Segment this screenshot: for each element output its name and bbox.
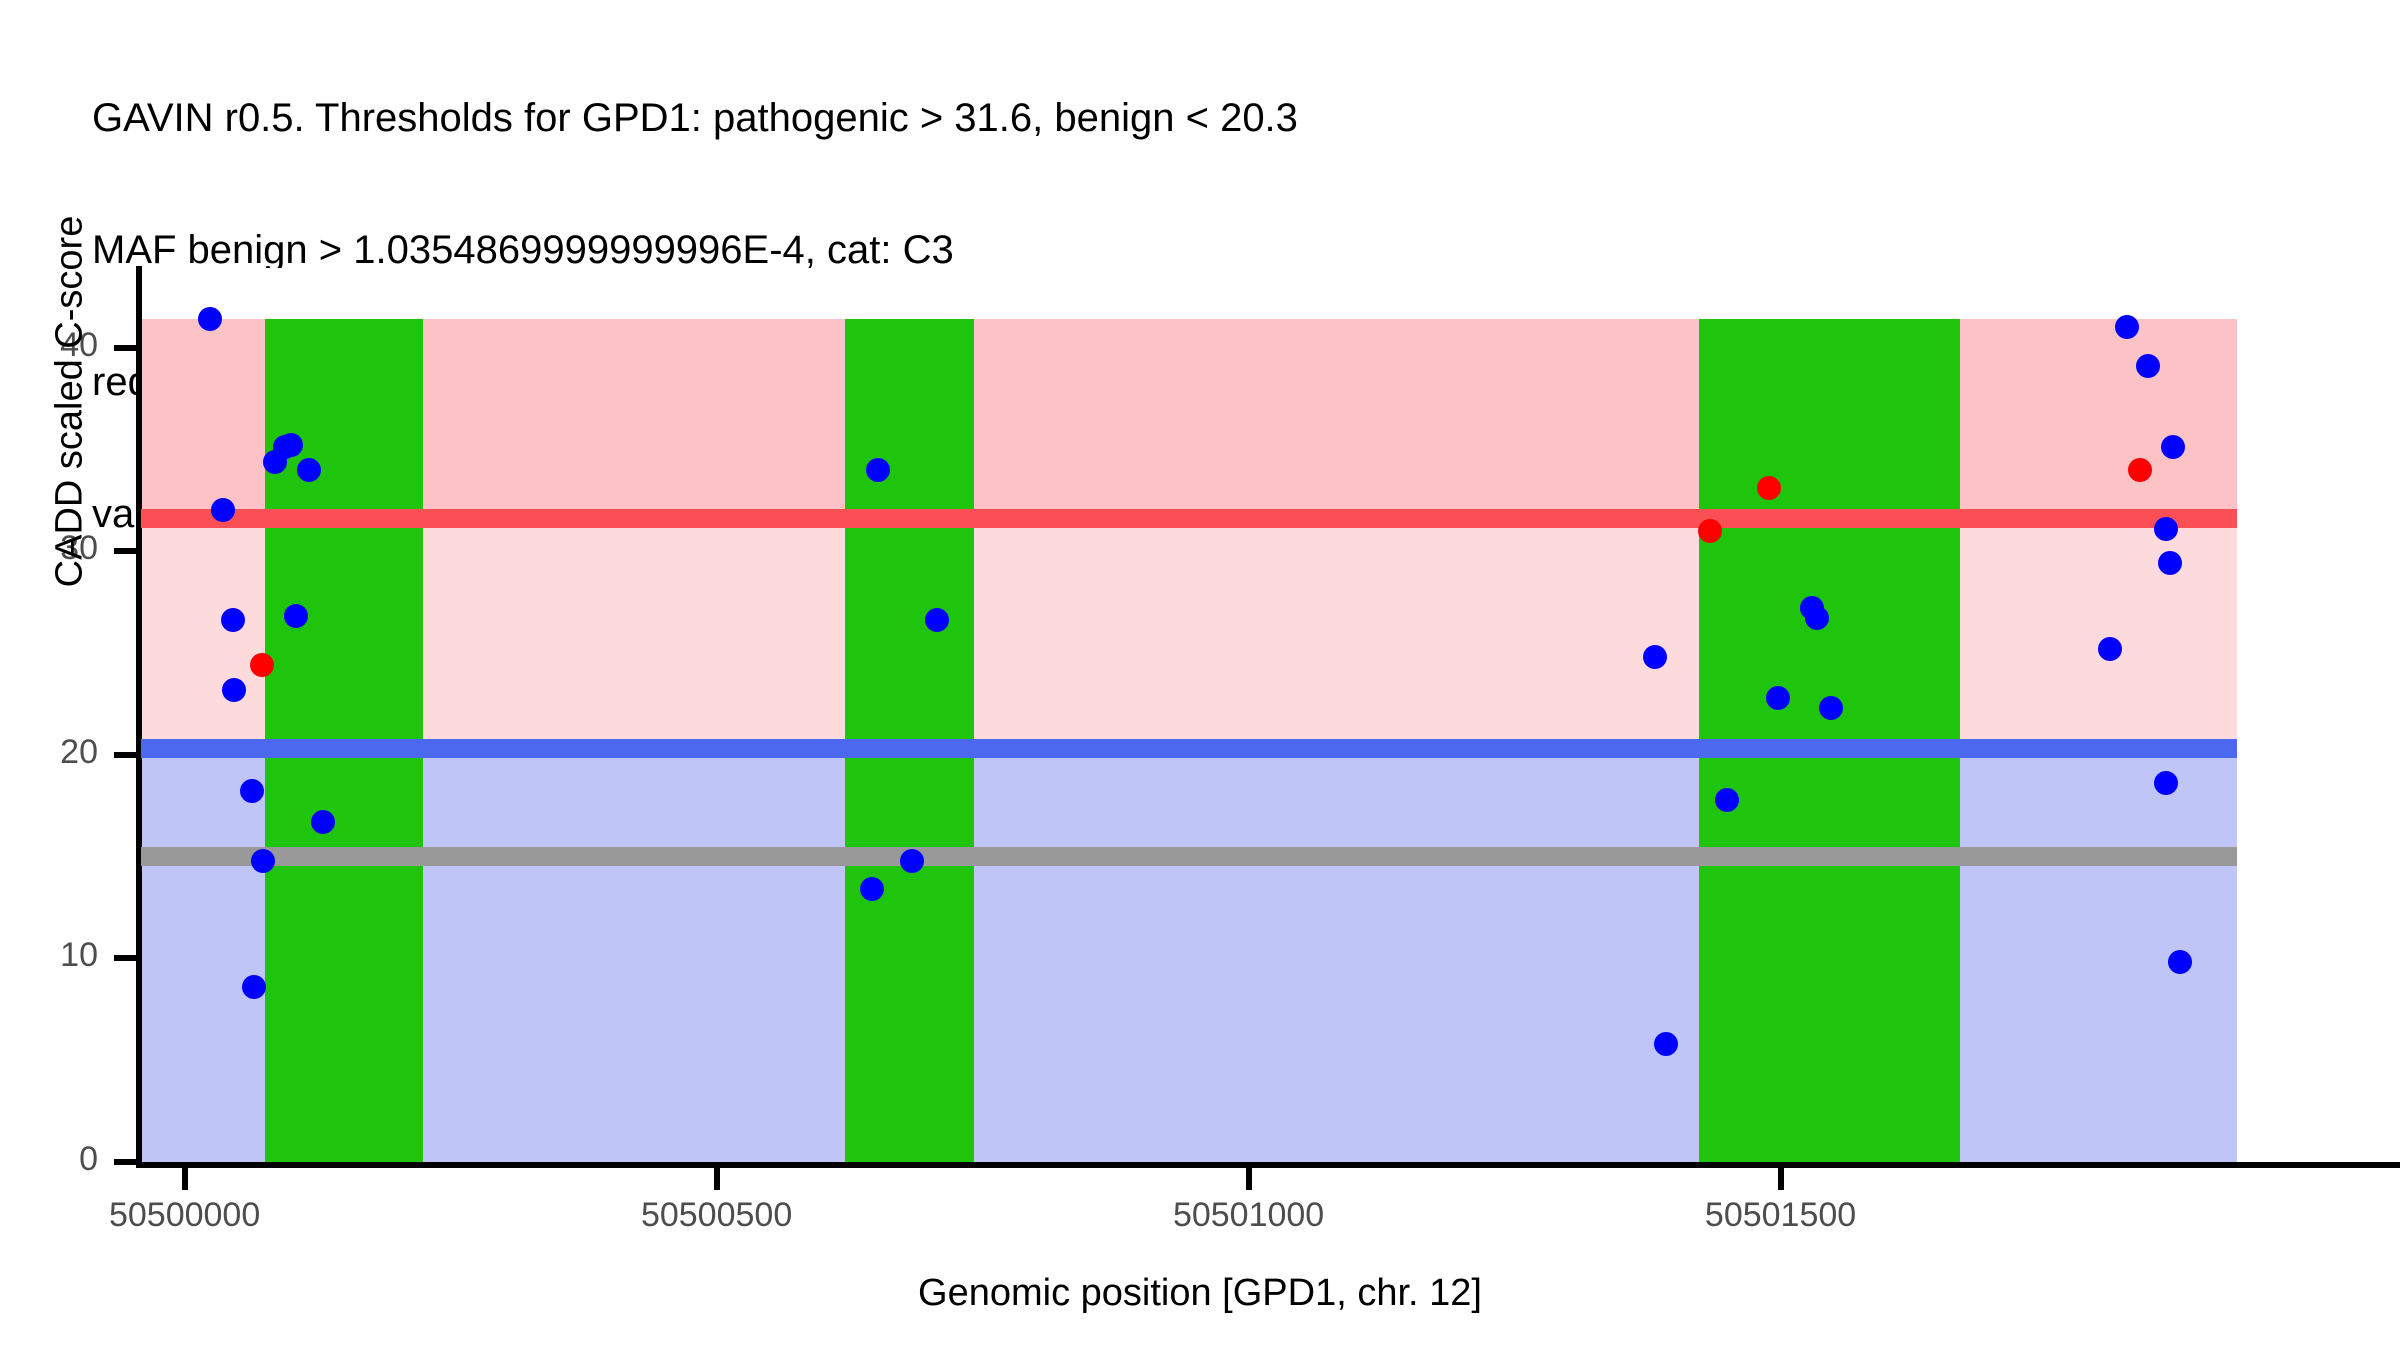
data-point-gnomad[interactable]: [242, 975, 266, 999]
y-tick-label: 20: [8, 733, 98, 772]
data-point-gnomad[interactable]: [866, 458, 890, 482]
plot-panel: [141, 268, 2237, 1162]
data-point-gnomad[interactable]: [297, 458, 321, 482]
y-tick-mark: [114, 1159, 138, 1165]
data-point-gnomad[interactable]: [1715, 788, 1739, 812]
data-point-gnomad[interactable]: [900, 849, 924, 873]
data-point-gnomad[interactable]: [1819, 696, 1843, 720]
data-point-clinvar[interactable]: [1698, 519, 1722, 543]
threshold-line-pathogenic: [141, 509, 2237, 528]
data-point-clinvar[interactable]: [1757, 476, 1781, 500]
x-tick-label: 50501000: [1119, 1196, 1379, 1235]
y-axis-line: [136, 266, 142, 1166]
scatter-plot: [141, 268, 2237, 1162]
data-point-gnomad[interactable]: [198, 307, 222, 331]
data-point-gnomad[interactable]: [240, 779, 264, 803]
data-point-gnomad[interactable]: [2154, 771, 2178, 795]
data-point-gnomad[interactable]: [311, 810, 335, 834]
data-point-gnomad[interactable]: [1805, 606, 1829, 630]
x-tick-label: 50500000: [55, 1196, 315, 1235]
y-tick-mark: [114, 955, 138, 961]
data-point-gnomad[interactable]: [1643, 645, 1667, 669]
x-tick-label: 50500500: [587, 1196, 847, 1235]
y-tick-label: 0: [8, 1140, 98, 1179]
threshold-line-benign: [141, 739, 2237, 758]
x-tick-mark: [714, 1168, 720, 1190]
data-point-gnomad[interactable]: [1654, 1032, 1678, 1056]
y-tick-label: 10: [8, 936, 98, 975]
y-tick-mark: [114, 345, 138, 351]
data-point-gnomad[interactable]: [860, 877, 884, 901]
x-tick-mark: [182, 1168, 188, 1190]
data-point-gnomad[interactable]: [2136, 354, 2160, 378]
data-point-gnomad[interactable]: [2154, 517, 2178, 541]
y-axis-title: CADD scaled C-score: [49, 122, 92, 682]
plot-root: GAVIN r0.5. Thresholds for GPD1: pathoge…: [0, 0, 2400, 1350]
data-point-gnomad[interactable]: [221, 608, 245, 632]
x-tick-label: 50501500: [1651, 1196, 1911, 1235]
data-point-gnomad[interactable]: [1766, 686, 1790, 710]
x-tick-mark: [1246, 1168, 1252, 1190]
y-tick-mark: [114, 752, 138, 758]
title-line-2: MAF benign > 1.0354869999999996E-4, cat:…: [92, 228, 2372, 272]
data-point-gnomad[interactable]: [222, 678, 246, 702]
data-point-clinvar[interactable]: [2128, 458, 2152, 482]
x-axis-line: [136, 1162, 2400, 1168]
y-tick-mark: [114, 548, 138, 554]
title-line-1: GAVIN r0.5. Thresholds for GPD1: pathoge…: [92, 96, 2372, 140]
threshold-line-fallback: [141, 847, 2237, 866]
data-point-gnomad[interactable]: [2168, 950, 2192, 974]
x-axis-title: Genomic position [GPD1, chr. 12]: [0, 1272, 2400, 1315]
x-tick-mark: [1778, 1168, 1784, 1190]
data-point-gnomad[interactable]: [251, 849, 275, 873]
